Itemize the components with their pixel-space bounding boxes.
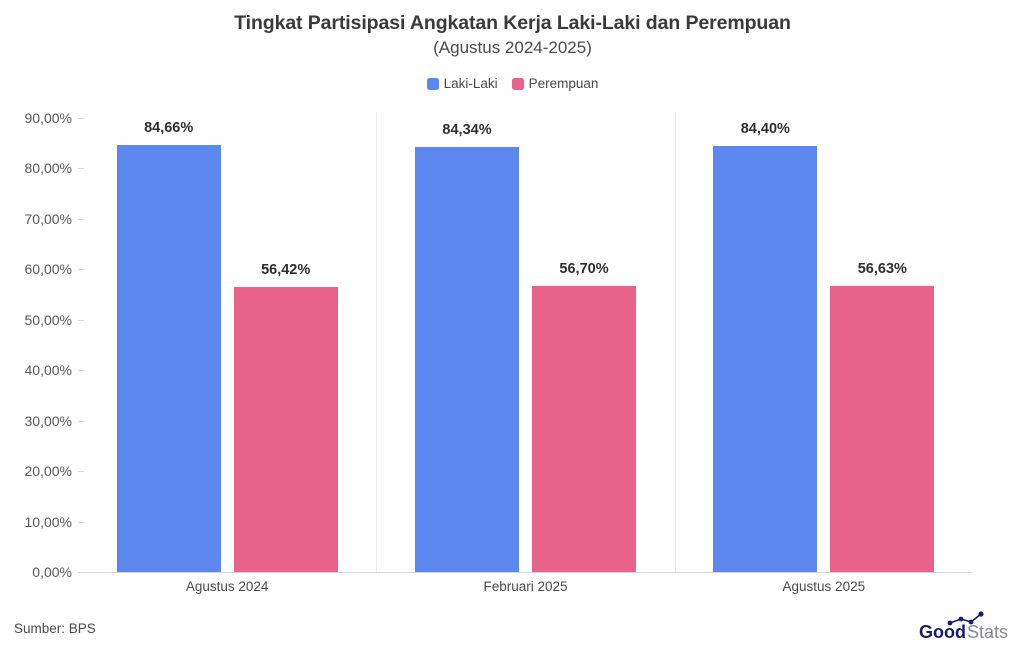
bars-layer: 84,66%56,42%84,34%56,70%84,40%56,63%	[0, 0, 1025, 650]
bar-perempuan-3[interactable]	[830, 286, 934, 572]
bar-value-label: 84,34%	[415, 121, 519, 139]
bar-perempuan-2[interactable]	[532, 286, 636, 572]
bar-value-label: 56,63%	[830, 260, 934, 278]
bar-perempuan-1[interactable]	[234, 287, 338, 572]
brand-name-stats: Stats	[967, 622, 1008, 642]
x-axis: Agustus 2024Februari 2025Agustus 2025	[0, 578, 1025, 600]
x-axis-category-label: Agustus 2024	[78, 578, 376, 596]
bar-laki-laki-3[interactable]	[713, 146, 817, 572]
source-note: Sumber: BPS	[14, 620, 96, 637]
bar-value-label: 84,66%	[117, 119, 221, 137]
brand-name-good: Good	[919, 622, 966, 642]
goodstats-logo-icon: Good Stats	[917, 610, 1017, 644]
plot-area: 0,00%10,00%20,00%30,00%40,00%50,00%60,00…	[0, 0, 1025, 650]
x-axis-category-label: Agustus 2025	[675, 578, 973, 596]
bar-value-label: 56,42%	[234, 261, 338, 279]
bar-value-label: 84,40%	[713, 120, 817, 138]
bar-laki-laki-1[interactable]	[117, 145, 221, 572]
brand-logo[interactable]: Good Stats	[917, 610, 1017, 644]
bar-laki-laki-2[interactable]	[415, 147, 519, 572]
x-axis-category-label: Februari 2025	[376, 578, 674, 596]
chart-container: Tingkat Partisipasi Angkatan Kerja Laki-…	[0, 0, 1025, 650]
bar-value-label: 56,70%	[532, 260, 636, 278]
